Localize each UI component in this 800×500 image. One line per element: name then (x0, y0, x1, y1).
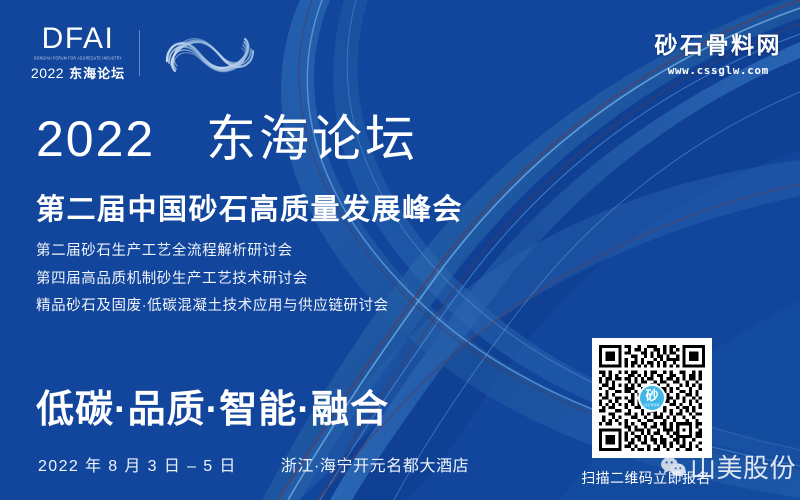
dfai-chinese-name: 东海论坛 (69, 63, 125, 82)
dfai-english-tagline: DONGHAI FORUM FOR AGGREGATE INDUSTRY (34, 56, 122, 61)
site-logo[interactable]: 砂石骨料网 www.cssglw.com (655, 26, 783, 77)
brand-lockup: DFAI DONGHAI FORUM FOR AGGREGATE INDUSTR… (30, 24, 263, 82)
qr-center-sub: 砂石骨料网 (645, 403, 660, 407)
qr-center-logo: 砂 砂石骨料网 (638, 384, 666, 412)
watermark: 山美股份 (660, 448, 796, 485)
footer-meta: 2022 年 8 月 3 日 – 5 日 浙江·海宁开元名都大酒店 (38, 452, 469, 476)
qr-code[interactable]: 砂 砂石骨料网 (592, 338, 712, 458)
wechat-icon (660, 456, 686, 478)
infinity-ribbon-mark-icon (157, 25, 263, 81)
dfai-acronym: DFAI (42, 24, 115, 54)
sub-title: 第二届中国砂石高质量发展峰会 (36, 186, 463, 228)
list-item: 第四届高品质机制砂生产工艺技术研讨会 (36, 272, 463, 287)
qr-center-char: 砂 (645, 389, 658, 402)
site-logo-name: 砂石骨料网 (655, 26, 783, 60)
main-title-name: 东海论坛 (206, 111, 418, 167)
site-logo-url: www.cssglw.com (655, 64, 783, 77)
brand-divider (139, 30, 140, 76)
headline-block: 2022 东海论坛 第二届中国砂石高质量发展峰会 第二届砂石生产工艺全流程解析研… (36, 112, 463, 327)
dfai-chinese-row: 2022 东海论坛 (31, 63, 125, 82)
page-title: 2022 东海论坛 (36, 112, 463, 166)
dfai-year: 2022 (31, 65, 64, 81)
poster-canvas: DFAI DONGHAI FORUM FOR AGGREGATE INDUSTR… (0, 0, 800, 500)
event-date: 2022 年 8 月 3 日 – 5 日 (38, 452, 237, 476)
slogan: 低碳·品质·智能·融合 (36, 378, 389, 433)
session-list: 第二届砂石生产工艺全流程解析研讨会 第四届高品质机制砂生产工艺技术研讨会 精品砂… (36, 244, 463, 314)
list-item: 精品砂石及固废·低碳混凝土技术应用与供应链研讨会 (36, 299, 463, 314)
dfai-logo: DFAI DONGHAI FORUM FOR AGGREGATE INDUSTR… (30, 24, 126, 82)
watermark-text: 山美股份 (690, 448, 796, 485)
event-venue: 浙江·海宁开元名都大酒店 (281, 452, 470, 476)
list-item: 第二届砂石生产工艺全流程解析研讨会 (36, 244, 463, 259)
main-title-year: 2022 (36, 111, 155, 167)
